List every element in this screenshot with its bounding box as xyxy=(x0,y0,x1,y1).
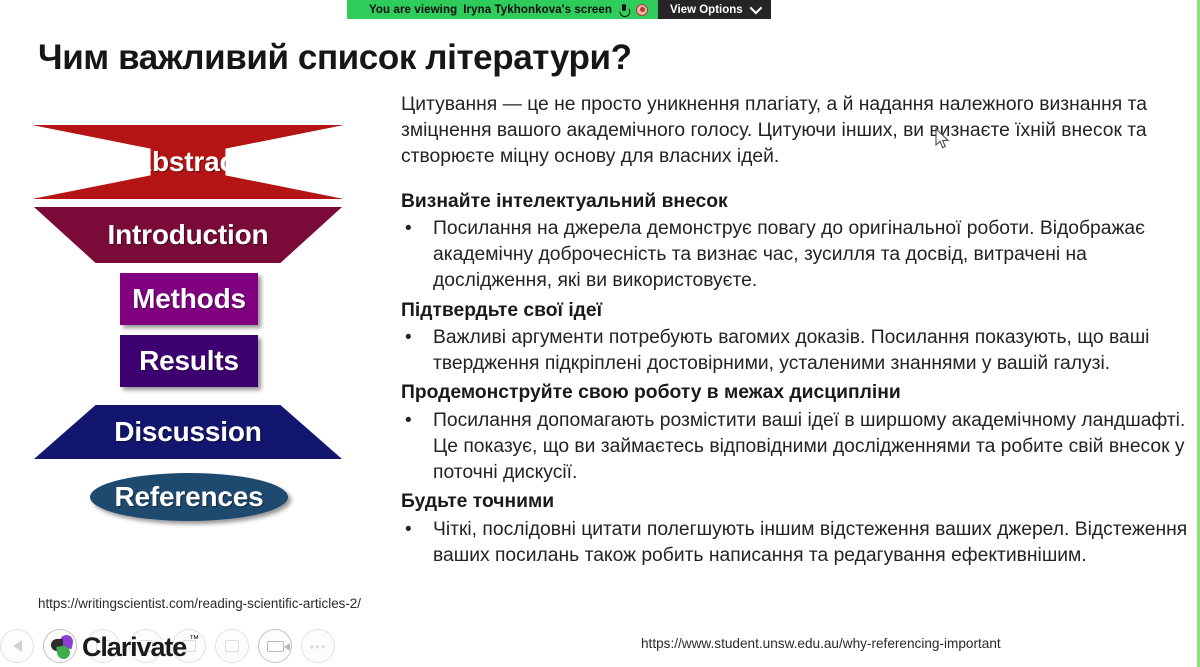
bullet-text: Посилання допомагають розмістити ваші ід… xyxy=(433,408,1196,487)
bullet-text: Важливі аргументи потребують вагомих док… xyxy=(433,325,1196,377)
trademark-symbol: ™ xyxy=(189,634,199,645)
bullet-text: Посилання на джерела демонструє повагу д… xyxy=(433,216,1196,295)
intro-paragraph: Цитування — це не просто уникнення плагі… xyxy=(401,92,1196,171)
section-block: Підтвердьте свої ідеї • Важливі аргумент… xyxy=(401,298,1196,378)
funnel-stage-label: Discussion xyxy=(114,416,261,448)
section-block: Будьте точними • Чіткі, послідовні цитат… xyxy=(401,489,1196,569)
funnel-stage-label: Introduction xyxy=(108,219,269,251)
list-item: • Посилання на джерела демонструє повагу… xyxy=(401,216,1196,295)
view-options-label: View Options xyxy=(670,4,743,16)
source-url-right[interactable]: https://www.student.unsw.edu.au/why-refe… xyxy=(641,636,1001,651)
bullet-icon: • xyxy=(401,517,433,569)
bullet-text: Чіткі, послідовні цитати полегшують інши… xyxy=(433,517,1196,569)
shared-screen-viewport: You are viewing Iryna Tykhonkova's scree… xyxy=(0,0,1200,667)
page-title: Чим важливий список літератури? xyxy=(38,38,632,78)
funnel-stage-abstract: Abstract xyxy=(32,125,344,199)
section-heading: Продемонструйте свою роботу в межах дисц… xyxy=(401,380,1196,406)
presenter-name-label: Iryna Tykhonkova's screen xyxy=(463,4,612,16)
source-url-left[interactable]: https://writingscientist.com/reading-sci… xyxy=(38,594,398,613)
notes-icon xyxy=(225,640,239,652)
view-options-button[interactable]: View Options xyxy=(658,0,771,19)
clarivate-chevron-logo-icon xyxy=(50,635,75,660)
viewing-prefix-label: You are viewing xyxy=(369,4,457,16)
bullet-icon: • xyxy=(401,408,433,487)
funnel-stage-references: References xyxy=(90,473,288,521)
recording-indicator-icon xyxy=(636,4,648,16)
funnel-stage-methods: Methods xyxy=(120,273,258,325)
section-block: Визнайте інтелектуальний внесок • Посила… xyxy=(401,189,1196,295)
section-heading: Визнайте інтелектуальний внесок xyxy=(401,189,1196,215)
notes-button[interactable] xyxy=(215,629,249,663)
chevron-down-icon xyxy=(749,2,762,15)
bullet-icon: • xyxy=(401,325,433,377)
section-heading: Підтвердьте свої ідеї xyxy=(401,298,1196,324)
clarivate-logo: Clarivate ™ xyxy=(50,632,199,663)
section-heading: Будьте точними xyxy=(401,489,1196,515)
imrad-funnel-diagram: Abstract Introduction Methods Results Di… xyxy=(32,125,344,525)
microphone-muted-icon xyxy=(618,4,630,16)
previous-slide-button[interactable] xyxy=(0,629,34,663)
previous-slide-icon xyxy=(13,640,22,652)
funnel-stage-introduction: Introduction xyxy=(34,207,342,263)
funnel-stage-label: Methods xyxy=(132,283,246,315)
funnel-stage-results: Results xyxy=(120,335,258,387)
section-block: Продемонструйте свою роботу в межах дисц… xyxy=(401,380,1196,486)
more-options-button[interactable]: ••• xyxy=(301,629,335,663)
funnel-stage-label: Results xyxy=(139,345,239,377)
zoom-screen-share-bar: You are viewing Iryna Tykhonkova's scree… xyxy=(347,0,771,19)
video-camera-button[interactable] xyxy=(258,629,292,663)
clarivate-wordmark: Clarivate xyxy=(82,632,186,663)
list-item: • Чіткі, послідовні цитати полегшують ін… xyxy=(401,517,1196,569)
list-item: • Важливі аргументи потребують вагомих д… xyxy=(401,325,1196,377)
funnel-stage-label: References xyxy=(115,481,264,513)
more-options-icon: ••• xyxy=(310,639,327,654)
slide-body-text: Цитування — це не просто уникнення плагі… xyxy=(401,92,1196,572)
list-item: • Посилання допомагають розмістити ваші … xyxy=(401,408,1196,487)
funnel-stage-discussion: Discussion xyxy=(34,405,342,459)
funnel-stage-label: Abstract xyxy=(132,146,244,178)
viewing-indicator: You are viewing Iryna Tykhonkova's scree… xyxy=(347,0,658,19)
video-camera-icon xyxy=(267,641,284,652)
bullet-icon: • xyxy=(401,216,433,295)
